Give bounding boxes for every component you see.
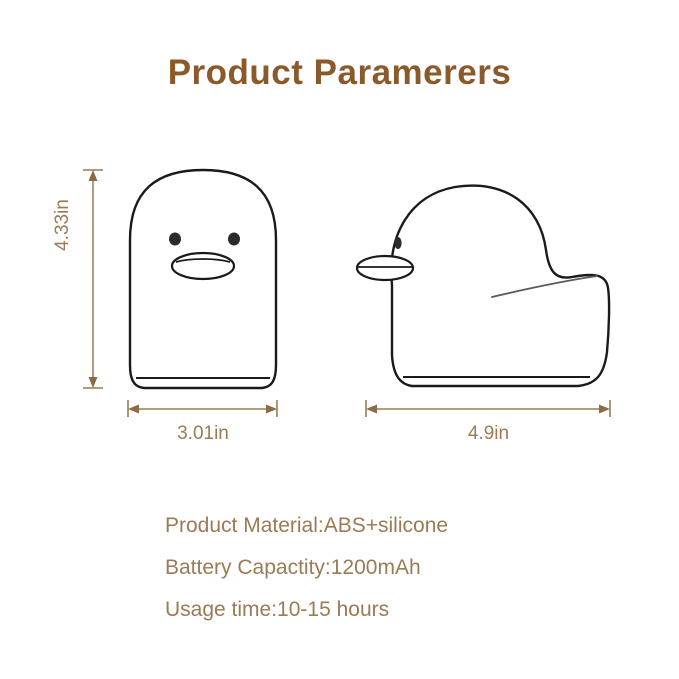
side-eye: [394, 237, 401, 249]
dimension-label-height: 4.33in: [52, 180, 74, 270]
duck-side-view-illustration: [357, 186, 609, 386]
dimension-label-width-side: 4.9in: [366, 423, 611, 445]
height-arrow-top: [89, 170, 98, 181]
spec-item-material: Product Material:ABS+silicone: [165, 505, 625, 547]
front-beak: [172, 253, 234, 279]
product-parameters-page: Product Paramerers: [0, 0, 679, 679]
height-arrow-bottom: [89, 377, 98, 388]
side-body-outline: [391, 186, 609, 386]
side-beak: [357, 256, 413, 280]
width-side-arrow-left: [366, 405, 377, 414]
front-right-eye: [228, 233, 240, 246]
specification-list: Product Material:ABS+silicone Battery Ca…: [165, 505, 625, 631]
dimension-height: [83, 170, 103, 388]
dimension-width-front: [128, 400, 277, 417]
width-front-arrow-left: [128, 405, 139, 414]
spec-item-usage-time: Usage time:10-15 hours: [165, 589, 625, 631]
front-left-eye: [169, 233, 181, 246]
width-side-arrow-right: [599, 405, 610, 414]
width-front-arrow-right: [266, 405, 277, 414]
duck-front-view-illustration: [130, 170, 276, 388]
spec-item-battery-capacity: Battery Capactity:1200mAh: [165, 547, 625, 589]
dimension-label-width-front: 3.01in: [128, 423, 278, 445]
dimension-width-side: [366, 400, 610, 417]
